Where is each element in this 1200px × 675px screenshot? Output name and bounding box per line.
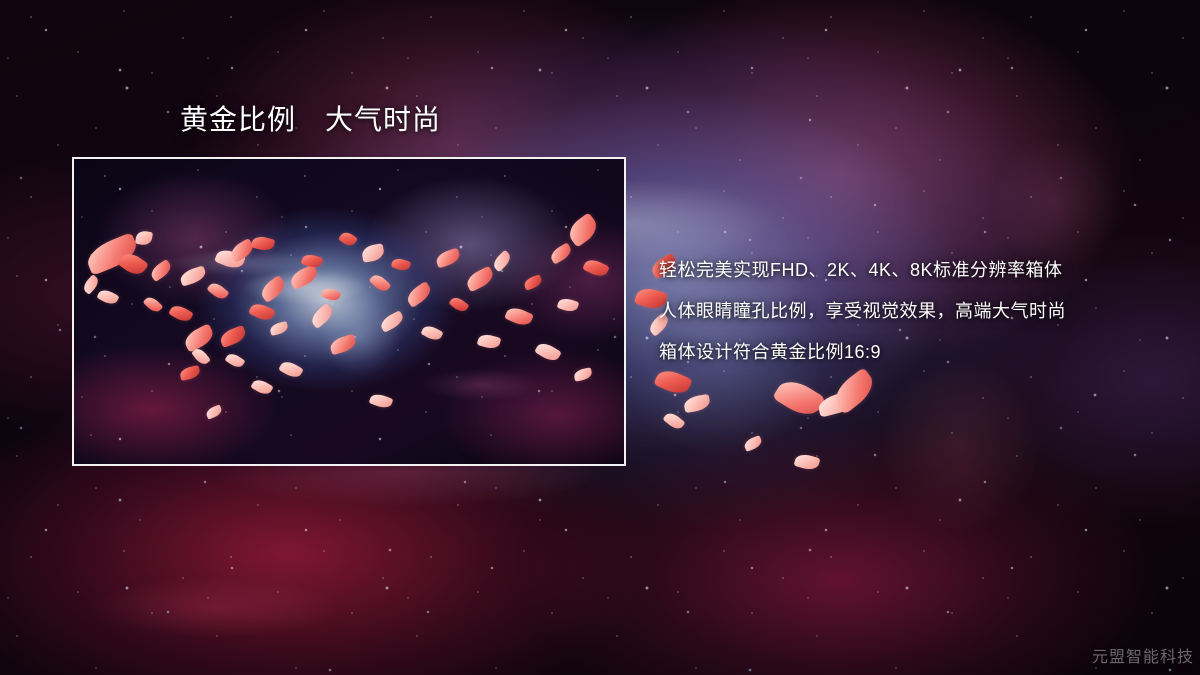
petal-shape (794, 452, 821, 472)
slide-body-copy: 轻松完美实现FHD、2K、4K、8K标准分辨率箱体 人体眼睛瞳孔比例，享受视觉效… (659, 250, 1179, 373)
petal-shape (772, 374, 826, 422)
petal-shape (683, 394, 711, 413)
petal-shape (662, 410, 685, 432)
petal-shape (743, 435, 764, 452)
photo-wisps-overlay (74, 159, 624, 464)
slide-title: 黄金比例 大气时尚 (180, 103, 441, 137)
body-line-2: 人体眼睛瞳孔比例，享受视觉效果，高端大气时尚 (659, 291, 1179, 332)
photo-image (74, 159, 624, 464)
petal-shape (829, 367, 880, 415)
photo-frame (72, 157, 626, 466)
watermark-text: 元盟智能科技 (1092, 643, 1194, 667)
presentation-slide: 黄金比例 大气时尚 轻松完美实现FHD、2K、4K、8K标准分辨率箱体 人体眼睛… (0, 0, 1200, 675)
petal-shape (816, 389, 859, 417)
body-line-1: 轻松完美实现FHD、2K、4K、8K标准分辨率箱体 (659, 250, 1179, 291)
body-line-3: 箱体设计符合黄金比例16:9 (659, 332, 1179, 373)
